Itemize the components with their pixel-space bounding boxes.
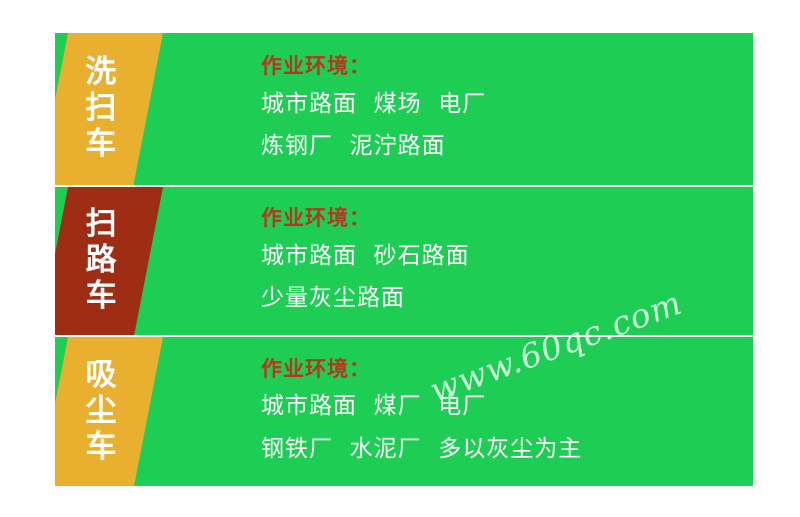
environment-line: 炼钢厂 泥泞路面 bbox=[261, 125, 753, 168]
tag-character-stack: 吸 尘 车 bbox=[86, 360, 117, 464]
environment-line: 少量灰尘路面 bbox=[261, 277, 753, 320]
row-content: 作业环境： 城市路面 砂石路面 少量灰尘路面 bbox=[255, 187, 753, 335]
tag-character: 车 bbox=[86, 281, 117, 313]
row-content: 作业环境： 城市路面 煤厂 电厂 钢铁厂 水泥厂 多以灰尘为主 bbox=[255, 337, 753, 486]
vehicle-type-tag-washing-sweeper: 洗 扫 车 bbox=[55, 33, 163, 185]
tag-character: 尘 bbox=[86, 396, 117, 428]
table-row: 吸 尘 车 作业环境： 城市路面 煤厂 电厂 钢铁厂 水泥厂 多以灰尘为主 bbox=[55, 337, 753, 486]
environment-line: 城市路面 煤厂 电厂 bbox=[261, 385, 753, 428]
row-content: 作业环境： 城市路面 煤场 电厂 炼钢厂 泥泞路面 bbox=[255, 33, 753, 185]
environment-line: 钢铁厂 水泥厂 多以灰尘为主 bbox=[261, 428, 753, 471]
tag-character-stack: 洗 扫 车 bbox=[85, 57, 116, 161]
tag-character: 吸 bbox=[86, 360, 117, 392]
vehicle-type-tag-road-sweeper: 扫 路 车 bbox=[55, 187, 163, 335]
vehicle-type-tag-vacuum-sweeper: 吸 尘 车 bbox=[55, 337, 163, 486]
tag-character: 扫 bbox=[85, 93, 116, 125]
tag-character: 车 bbox=[86, 431, 117, 463]
tag-character-stack: 扫 路 车 bbox=[86, 209, 117, 313]
environment-heading: 作业环境： bbox=[261, 353, 753, 386]
environment-heading: 作业环境： bbox=[261, 50, 753, 83]
tag-character: 洗 bbox=[85, 57, 116, 89]
table-row: 洗 扫 车 作业环境： 城市路面 煤场 电厂 炼钢厂 泥泞路面 bbox=[55, 33, 753, 185]
infographic-panel: 洗 扫 车 作业环境： 城市路面 煤场 电厂 炼钢厂 泥泞路面 扫 路 车 作业… bbox=[55, 33, 753, 486]
tag-character: 扫 bbox=[86, 209, 117, 241]
table-row: 扫 路 车 作业环境： 城市路面 砂石路面 少量灰尘路面 bbox=[55, 187, 753, 335]
tag-character: 车 bbox=[85, 129, 116, 161]
environment-line: 城市路面 砂石路面 bbox=[261, 235, 753, 278]
environment-heading: 作业环境： bbox=[261, 202, 753, 235]
tag-character: 路 bbox=[86, 245, 117, 277]
environment-line: 城市路面 煤场 电厂 bbox=[261, 83, 753, 126]
